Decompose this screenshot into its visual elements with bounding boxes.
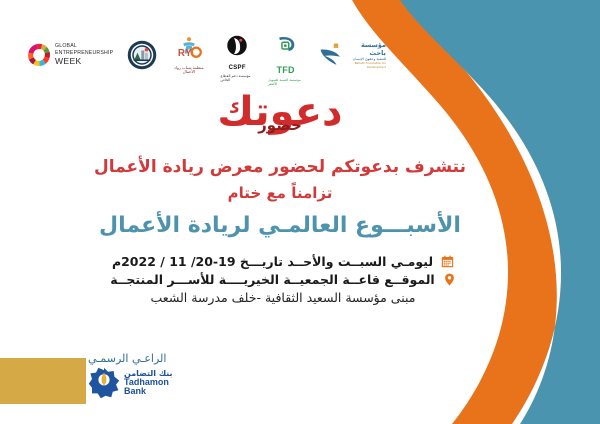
logo-baheth-foundation: مؤسسة باحث للتنمية وحقوق الإنسان Baheth …	[317, 32, 386, 78]
calligraphy-sub-word: حضور	[0, 118, 560, 133]
gew-line-week: WEEK	[55, 56, 113, 66]
bank-name-english-line2: Bank	[124, 387, 173, 396]
gew-line-global: GLOBAL	[55, 43, 77, 49]
tfd-acronym: TFD	[277, 65, 295, 75]
detail-row-date: ليومـي السبــت والأحــد تاريـــخ 19-20/ …	[112, 254, 454, 269]
event-details: ليومـي السبــت والأحــد تاريـــخ 19-20/ …	[0, 254, 566, 305]
logo-global-entrepreneurship-week: GLOBAL ENTREPRENEURSHIP WEEK	[26, 32, 113, 78]
tadhamon-bank-wordmark: بنك التضامن Tadhamon Bank	[124, 370, 173, 397]
sponsor-logo-tadhamon-bank: بنك التضامن Tadhamon Bank	[88, 367, 173, 399]
gold-accent-block	[0, 358, 86, 404]
svg-text:R: R	[178, 48, 185, 59]
detail-row-address: مبنى مؤسسة السعيد الثقافية -خلف مدرسة ال…	[151, 290, 416, 305]
gew-line-entrepreneurship: ENTREPRENEURSHIP	[55, 50, 113, 56]
chamber-seal-icon	[127, 40, 157, 70]
baheth-title: مؤسسة باحث	[350, 41, 386, 57]
invitation-poster: GLOBAL ENTREPRENEURSHIP WEEK	[0, 0, 600, 424]
baheth-subtitle-en: Baheth Foundation for Development	[350, 61, 386, 69]
sponsor-label: الراعـي الرسمـي	[88, 352, 166, 365]
detail-address-text: مبنى مؤسسة السعيد الثقافية -خلف مدرسة ال…	[151, 290, 416, 305]
calendar-icon	[441, 254, 454, 269]
sponsor-block: الراعـي الرسمـي بنك التضامن Tadhamon Ban…	[88, 352, 173, 399]
baheth-bird-icon	[317, 40, 347, 70]
ryo-mark-icon: R Y	[174, 32, 204, 62]
calligraphy-logo: دعوتك حضور	[0, 92, 560, 133]
cspf-mark-icon	[222, 32, 252, 62]
tfd-caption: مؤسسة التنمية للتمويل الأصغر	[268, 78, 303, 86]
logo-cspf: CSPF مؤسسة دعم القطاع الخاص	[220, 32, 254, 78]
cspf-caption: مؤسسة دعم القطاع الخاص	[220, 74, 254, 82]
logo-tfd: TFD مؤسسة التنمية للتمويل الأصغر	[268, 32, 303, 78]
headline-block: نتشرف بدعوتكم لحضور معرض ريادة الأعمال ت…	[0, 155, 560, 242]
detail-date-text: ليومـي السبــت والأحــد تاريـــخ 19-20/ …	[112, 254, 433, 269]
tadhamon-bank-icon	[88, 367, 120, 399]
gew-wordmark: GLOBAL ENTREPRENEURSHIP WEEK	[55, 43, 113, 66]
logo-chamber-badge	[127, 32, 157, 78]
detail-row-location: الموقــع قاعــة الجمعيــة الخيريــــة لل…	[110, 272, 455, 287]
detail-location-text: الموقــع قاعــة الجمعيــة الخيريــــة لل…	[110, 272, 434, 287]
headline-invitation-line: نتشرف بدعوتكم لحضور معرض ريادة الأعمال	[0, 155, 560, 181]
logo-ryo: R Y منظمة شباب رواد الأعمال	[171, 32, 206, 78]
headline-event-name: الأسبـــوع العالمـي لريادة الأعمال	[0, 209, 560, 242]
gew-ring-icon	[26, 42, 52, 68]
partner-logo-strip: GLOBAL ENTREPRENEURSHIP WEEK	[26, 30, 386, 80]
ryo-caption: منظمة شباب رواد الأعمال	[171, 66, 206, 75]
cspf-acronym: CSPF	[229, 65, 246, 71]
headline-coinciding-line: تزامناً مع ختام	[0, 181, 560, 205]
location-pin-icon	[443, 272, 456, 287]
tfd-mark-icon	[271, 32, 301, 62]
